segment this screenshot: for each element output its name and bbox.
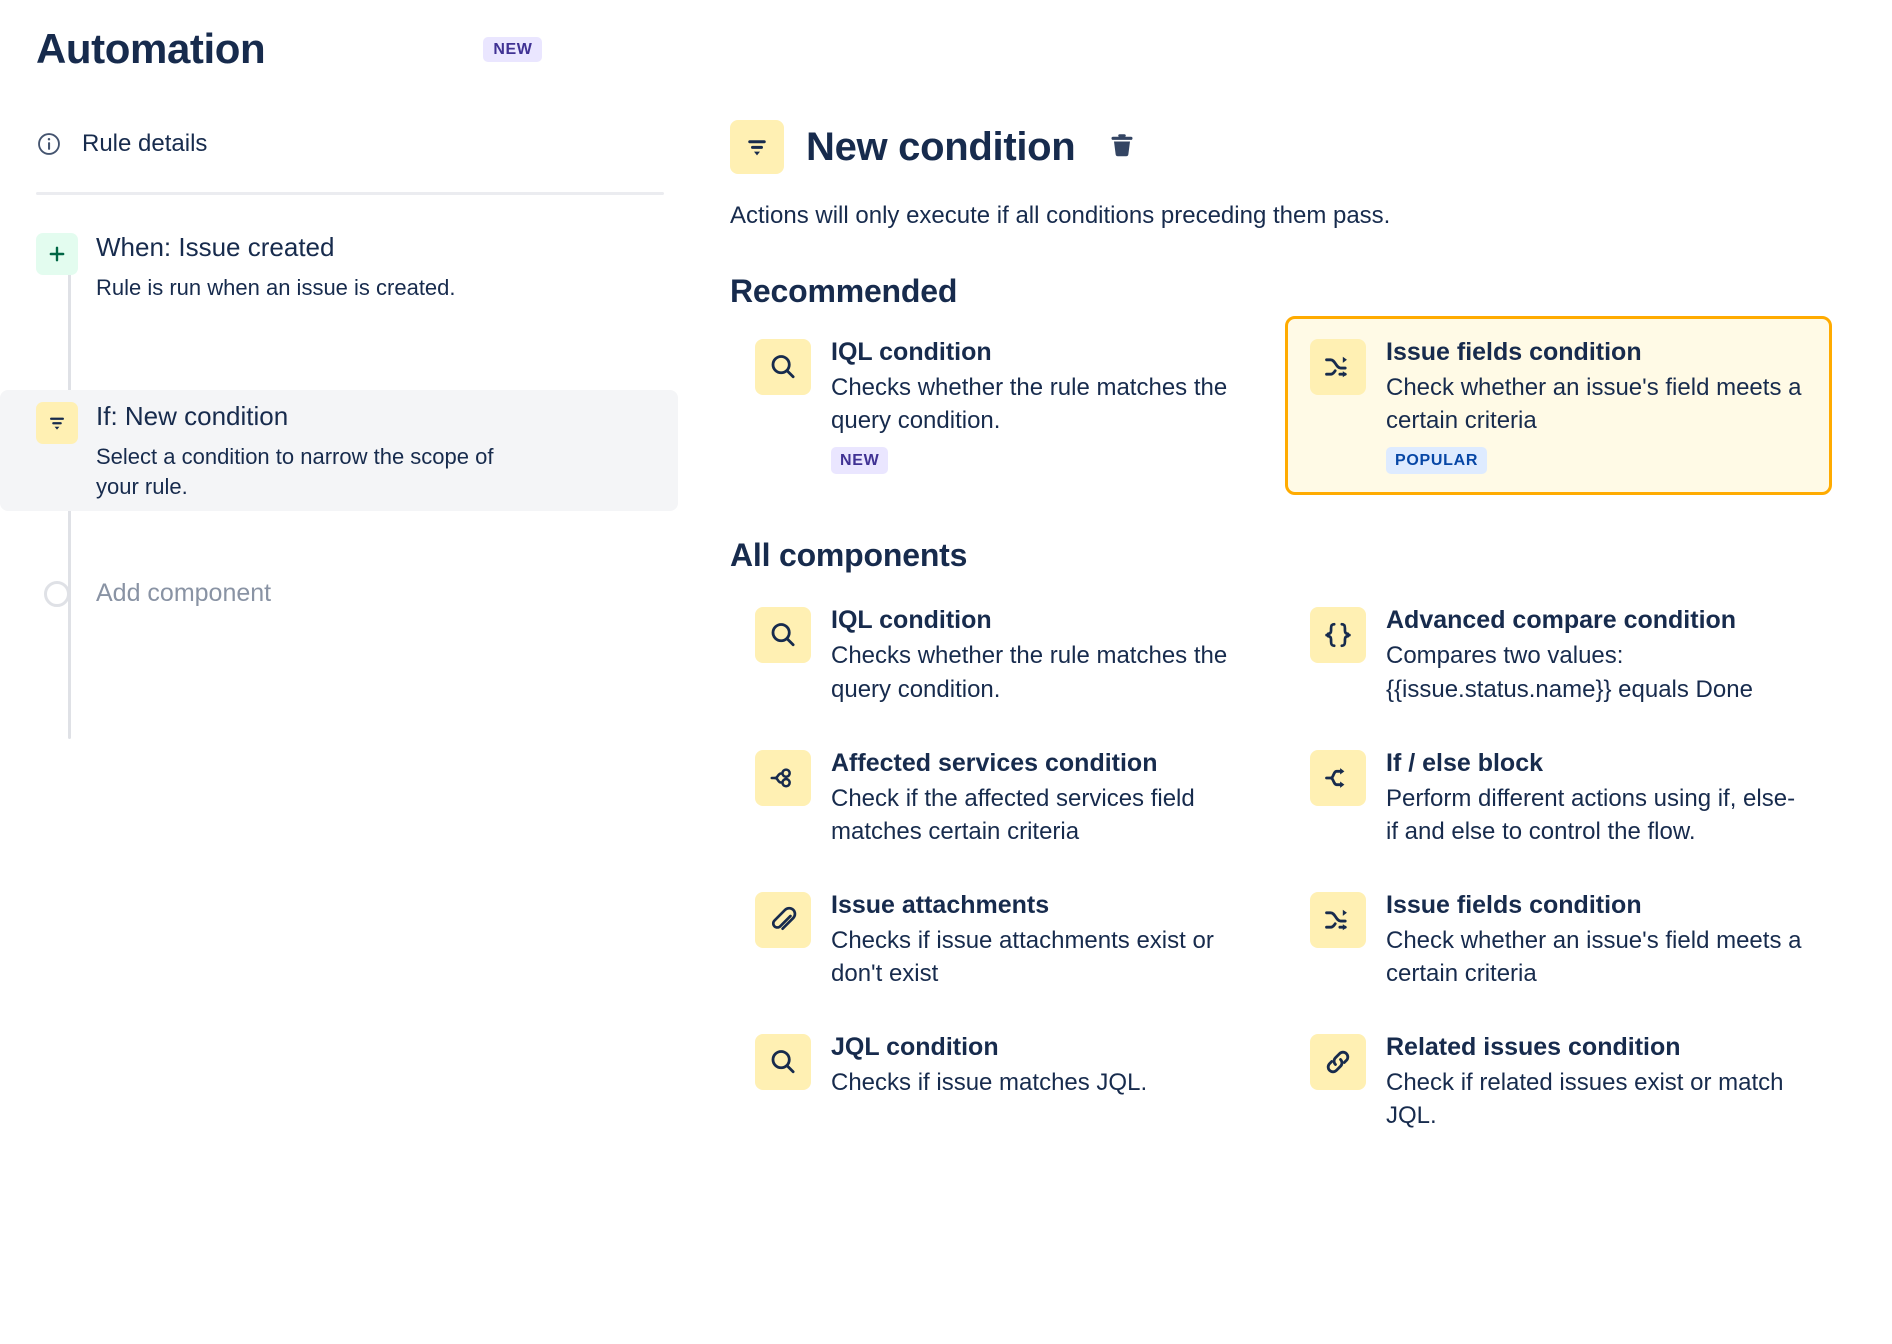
rule-item-desc: Rule is run when an issue is created.	[96, 273, 456, 303]
component-badge-wrap: NEW	[831, 447, 1252, 474]
component-card-body: Issue fields condition Check whether an …	[1386, 890, 1807, 990]
component-title: Issue fields condition	[1386, 890, 1807, 920]
braces-icon	[1310, 607, 1366, 663]
component-card-body: JQL condition Checks if issue matches JQ…	[831, 1032, 1147, 1099]
component-card-issue-attachments[interactable]: Issue attachments Checks if issue attach…	[730, 869, 1277, 1011]
component-desc: Check if related issues exist or match J…	[1386, 1066, 1807, 1132]
component-desc: Check whether an issue's field meets a c…	[1386, 371, 1807, 437]
component-title: If / else block	[1386, 748, 1807, 778]
component-title: Issue fields condition	[1386, 337, 1807, 367]
rule-details-label: Rule details	[82, 130, 207, 158]
search-icon	[755, 1034, 811, 1090]
component-desc: Check whether an issue's field meets a c…	[1386, 924, 1807, 990]
component-title: JQL condition	[831, 1032, 1147, 1062]
component-desc: Compares two values: {{issue.status.name…	[1386, 639, 1807, 705]
panel-title: New condition	[806, 126, 1075, 168]
add-component-button[interactable]: Add component	[0, 579, 700, 608]
component-title: IQL condition	[831, 605, 1252, 635]
component-card-affected-services-condition[interactable]: Affected services condition Check if the…	[730, 727, 1277, 869]
recommended-grid: IQL condition Checks whether the rule ma…	[730, 316, 1832, 495]
component-title: Affected services condition	[831, 748, 1252, 778]
page-header: Automation NEW	[0, 0, 700, 72]
component-title: Issue attachments	[831, 890, 1252, 920]
circle-outline-icon	[44, 581, 70, 607]
rule-item-desc: Select a condition to narrow the scope o…	[96, 442, 516, 501]
component-card-iql-condition-recommended[interactable]: IQL condition Checks whether the rule ma…	[730, 316, 1277, 495]
filter-icon	[36, 402, 78, 444]
rule-details-item[interactable]: Rule details	[0, 124, 700, 164]
component-card-body: IQL condition Checks whether the rule ma…	[831, 605, 1252, 705]
rule-item-text: When: Issue created Rule is run when an …	[96, 231, 456, 302]
component-card-body: IQL condition Checks whether the rule ma…	[831, 337, 1252, 474]
header-badge-wrap: NEW	[483, 37, 542, 62]
component-badge-new: NEW	[831, 447, 888, 474]
search-icon	[755, 339, 811, 395]
search-icon	[755, 607, 811, 663]
recommended-heading: Recommended	[730, 273, 1832, 310]
page-title: Automation	[36, 26, 265, 72]
component-card-issue-fields-condition-recommended[interactable]: Issue fields condition Check whether an …	[1285, 316, 1832, 495]
shuffle-icon	[1310, 892, 1366, 948]
component-desc: Checks if issue matches JQL.	[831, 1066, 1147, 1099]
automation-page: Automation NEW Rule details	[0, 0, 1892, 1344]
sidebar-divider	[36, 192, 664, 195]
info-circle-icon	[36, 131, 62, 157]
affected-services-icon	[755, 750, 811, 806]
rule-item-text: If: New condition Select a condition to …	[96, 400, 516, 501]
component-title: Related issues condition	[1386, 1032, 1807, 1062]
panel-subtitle: Actions will only execute if all conditi…	[730, 200, 1832, 231]
component-desc: Check if the affected services field mat…	[831, 782, 1252, 848]
component-card-body: Advanced compare condition Compares two …	[1386, 605, 1807, 705]
status-badge-new: NEW	[483, 37, 542, 62]
rule-item-if-new-condition[interactable]: If: New condition Select a condition to …	[0, 390, 678, 511]
if-else-branch-icon	[1310, 750, 1366, 806]
component-card-jql-condition[interactable]: JQL condition Checks if issue matches JQ…	[730, 1011, 1277, 1153]
component-card-advanced-compare-condition[interactable]: Advanced compare condition Compares two …	[1285, 584, 1832, 726]
add-component-label: Add component	[96, 579, 271, 608]
component-picker-panel: New condition Actions will only execute …	[700, 0, 1892, 1344]
rule-item-title: If: New condition	[96, 400, 516, 433]
delete-condition-button[interactable]	[1101, 126, 1143, 168]
filter-icon	[730, 120, 784, 174]
component-desc: Perform different actions using if, else…	[1386, 782, 1807, 848]
component-title: IQL condition	[831, 337, 1252, 367]
component-card-body: Affected services condition Check if the…	[831, 748, 1252, 848]
component-card-body: Issue attachments Checks if issue attach…	[831, 890, 1252, 990]
plus-icon	[36, 233, 78, 275]
component-badge-wrap: POPULAR	[1386, 447, 1807, 474]
paperclip-icon	[755, 892, 811, 948]
rule-sidebar: Automation NEW Rule details	[0, 0, 700, 1344]
component-desc: Checks whether the rule matches the quer…	[831, 639, 1252, 705]
component-card-issue-fields-condition[interactable]: Issue fields condition Check whether an …	[1285, 869, 1832, 1011]
all-components-heading: All components	[730, 537, 1832, 574]
trash-icon	[1107, 131, 1137, 164]
link-icon	[1310, 1034, 1366, 1090]
component-card-related-issues-condition[interactable]: Related issues condition Check if relate…	[1285, 1011, 1832, 1153]
all-components-grid: IQL condition Checks whether the rule ma…	[730, 584, 1832, 1153]
component-desc: Checks whether the rule matches the quer…	[831, 371, 1252, 437]
component-card-body: Related issues condition Check if relate…	[1386, 1032, 1807, 1132]
component-card-body: If / else block Perform different action…	[1386, 748, 1807, 848]
shuffle-icon	[1310, 339, 1366, 395]
component-badge-popular: POPULAR	[1386, 447, 1487, 474]
panel-header: New condition	[730, 120, 1832, 174]
component-card-if-else-block[interactable]: If / else block Perform different action…	[1285, 727, 1832, 869]
component-desc: Checks if issue attachments exist or don…	[831, 924, 1252, 990]
rule-item-when-issue-created[interactable]: When: Issue created Rule is run when an …	[0, 221, 700, 312]
component-card-iql-condition[interactable]: IQL condition Checks whether the rule ma…	[730, 584, 1277, 726]
rule-tree: When: Issue created Rule is run when an …	[0, 221, 700, 648]
component-card-body: Issue fields condition Check whether an …	[1386, 337, 1807, 474]
rule-item-title: When: Issue created	[96, 231, 456, 264]
component-title: Advanced compare condition	[1386, 605, 1807, 635]
